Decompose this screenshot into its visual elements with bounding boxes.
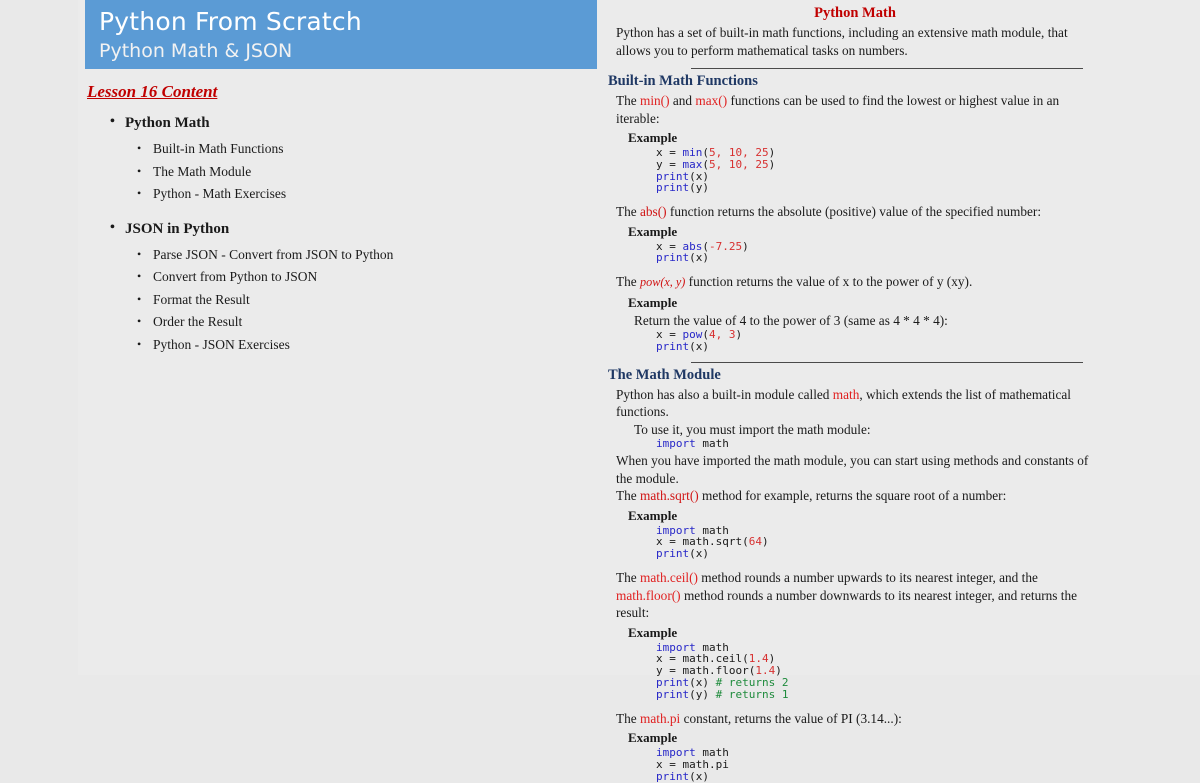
title-banner: Python From Scratch Python Math & JSON [85,0,597,69]
paragraph-pi: The math.pi constant, returns the value … [616,710,1102,728]
table-of-contents: Python Math Built-in Math Functions The … [85,112,585,356]
code-text: (x) [689,340,709,353]
paragraph-pow: The pow(x, y) function returns the value… [616,273,1102,292]
example-label: Example [628,508,1102,524]
toc-sublist: Parse JSON - Convert from JSON to Python… [85,244,585,357]
paragraph-abs: The abs() function returns the absolute … [616,203,1102,221]
toc-item-parse-json[interactable]: Parse JSON - Convert from JSON to Python [85,244,585,267]
section-heading-builtin-math: Built-in Math Functions [608,72,1102,91]
text-fragment: function returns the value of x to the p… [685,274,972,289]
code-fn-print: print [656,181,689,194]
code-text: ) [736,328,743,341]
paragraph-pow-description: Return the value of 4 to the power of 3 … [634,312,1102,330]
toc-group-python-math: Python Math Built-in Math Functions The … [85,112,585,206]
paragraph-use-import: To use it, you must import the math modu… [634,421,1102,439]
toc-sublist: Built-in Math Functions The Math Module … [85,138,585,206]
code-fn-print: print [656,251,689,264]
code-text: (y) [689,688,716,701]
toc-item-convert-python-to-json[interactable]: Convert from Python to JSON [85,266,585,289]
text-fragment: method rounds a number upwards to its ne… [698,570,1038,585]
content-title: Python Math [608,4,1102,23]
example-label: Example [628,295,1102,311]
code-number: -7.25 [709,240,742,253]
code-text: math [696,437,729,450]
text-fragment: constant, returns the value of PI (3.14.… [680,711,902,726]
code-ref-math-sqrt: math.sqrt() [640,488,699,503]
text-fragment: method rounds a number downwards to its … [616,588,1077,621]
code-fn-print: print [656,770,689,783]
example-label: Example [628,730,1102,746]
text-fragment: and [670,93,696,108]
code-ref-math-pi: math.pi [640,711,680,726]
text-fragment: Python has also a built-in module called [616,387,833,402]
section-divider-1 [691,68,1083,69]
code-block-ceil-floor: import math x = math.ceil(1.4) y = math.… [656,642,1102,701]
code-block-sqrt: import math x = math.sqrt(64) print(x) [656,525,1102,560]
code-ref-max: max() [695,93,727,108]
code-text: (x) [689,547,709,560]
example-label: Example [628,130,1102,146]
code-ref-math-ceil: math.ceil() [640,570,698,585]
toc-group-json-in-python: JSON in Python Parse JSON - Convert from… [85,218,585,357]
code-ref-abs: abs() [640,204,667,219]
code-text: (x) [689,770,709,783]
text-fragment: The [616,204,640,219]
text-fragment: The [616,274,640,289]
example-label: Example [628,625,1102,641]
paragraph-sqrt: The math.sqrt() method for example, retu… [616,487,1102,505]
code-text: (y) [689,181,709,194]
code-ref-math-floor: math.floor() [616,588,681,603]
paragraph-when-imported: When you have imported the math module, … [616,452,1102,487]
code-block-abs: x = abs(-7.25) print(x) [656,241,1102,265]
text-fragment: The [616,570,640,585]
code-fn-print: print [656,340,689,353]
code-args: 4, 3 [709,328,736,341]
code-ref-pow: pow(x, y) [640,275,685,289]
sidebar-column: Python From Scratch Python Math & JSON L… [85,0,585,368]
content-intro-paragraph: Python has a set of built-in math functi… [616,24,1102,59]
code-comment: # returns 1 [716,688,789,701]
section-heading-math-module: The Math Module [608,366,1102,385]
banner-subtitle: Python Math & JSON [99,38,597,64]
code-fn-print: print [656,688,689,701]
code-args: 5, 10, 25 [709,158,769,171]
code-text: ) [742,240,749,253]
code-ref-math: math [833,387,860,402]
paragraph-module-intro: Python has also a built-in module called… [616,386,1102,421]
text-fragment: The [616,711,640,726]
code-keyword-import: import [656,437,696,450]
code-block-minmax: x = min(5, 10, 25) y = max(5, 10, 25) pr… [656,147,1102,194]
toc-item-the-math-module[interactable]: The Math Module [85,161,585,184]
toc-item-format-the-result[interactable]: Format the Result [85,289,585,312]
code-block-pow: x = pow(4, 3) print(x) [656,329,1102,353]
code-block-import: import math [656,438,1102,450]
content-column: Python Math Python has a set of built-in… [608,2,1102,782]
toc-item-order-the-result[interactable]: Order the Result [85,311,585,334]
toc-item-builtin-math-functions[interactable]: Built-in Math Functions [85,138,585,161]
code-ref-min: min() [640,93,670,108]
paragraph-minmax: The min() and max() functions can be use… [616,92,1102,127]
banner-title: Python From Scratch [99,6,597,38]
code-text: ) [769,158,776,171]
left-gutter [0,0,78,675]
code-block-pi: import math x = math.pi print(x) [656,747,1102,782]
paragraph-ceil-floor: The math.ceil() method rounds a number u… [616,569,1102,622]
text-fragment: method for example, returns the square r… [699,488,1007,503]
section-divider-2 [691,362,1083,363]
code-number: 64 [749,535,762,548]
text-fragment: function returns the absolute (positive)… [667,204,1041,219]
example-label: Example [628,224,1102,240]
toc-group-title: Python Math [85,112,585,134]
code-fn-print: print [656,547,689,560]
text-fragment: The [616,93,640,108]
code-text: (x) [689,251,709,264]
lesson-content-heading: Lesson 16 Content [87,82,217,102]
toc-group-title: JSON in Python [85,218,585,240]
toc-item-python-math-exercises[interactable]: Python - Math Exercises [85,183,585,206]
text-fragment: The [616,488,640,503]
toc-item-python-json-exercises[interactable]: Python - JSON Exercises [85,334,585,357]
code-text: ) [762,535,769,548]
